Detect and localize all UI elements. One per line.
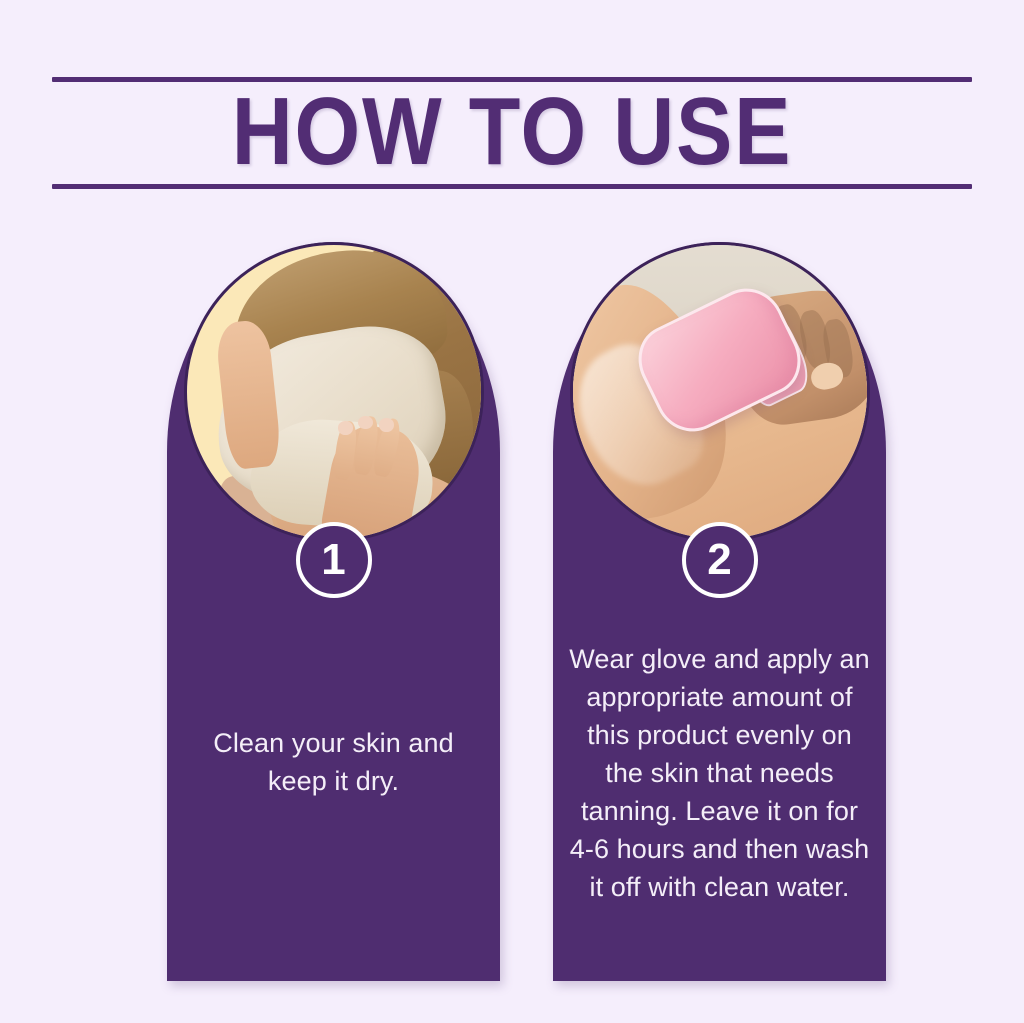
step-caption-2: Wear glove and apply an appropriate amou… — [567, 640, 872, 906]
step-card-2: 2 Wear glove and apply an appropriate am… — [553, 242, 886, 981]
title-rule-bottom — [52, 184, 972, 189]
fingernail-shape — [338, 421, 353, 434]
step-1-photo — [184, 242, 484, 542]
poster-header: HOW TO USE — [52, 70, 972, 196]
fingernail-shape — [358, 416, 373, 429]
steps-container: 1 Clean your skin and keep it dry. 2 Wea… — [0, 242, 1024, 982]
how-to-use-poster: HOW TO USE — [0, 0, 1024, 1023]
page-title: HOW TO USE — [107, 82, 917, 182]
step-number-badge-1: 1 — [296, 522, 372, 598]
step-caption-1: Clean your skin and keep it dry. — [181, 724, 486, 800]
step-card-1: 1 Clean your skin and keep it dry. — [167, 242, 500, 981]
step-2-photo — [570, 242, 870, 542]
fingernail-shape — [379, 418, 394, 431]
step-number-badge-2: 2 — [682, 522, 758, 598]
